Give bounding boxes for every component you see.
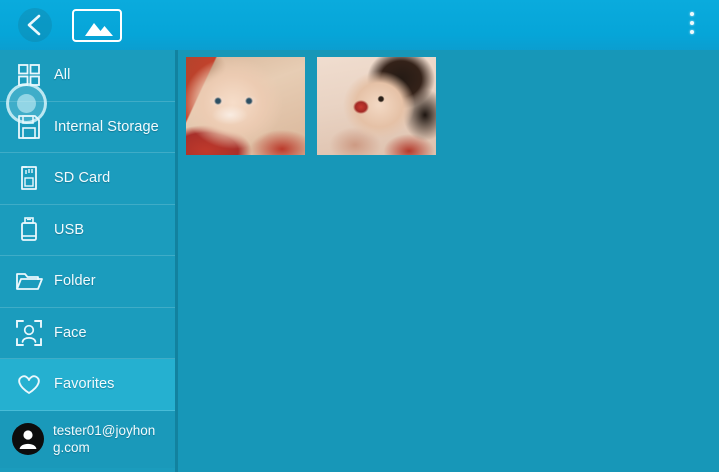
sidebar-account-item[interactable]: tester01@joyhong.com — [0, 411, 175, 468]
floppy-disk-icon — [14, 112, 44, 142]
sidebar-item-label: Favorites — [54, 376, 115, 392]
sidebar-item-all[interactable]: All — [0, 50, 175, 102]
photo-grid — [181, 50, 719, 472]
sidebar-nav: All Internal Storage — [0, 50, 178, 472]
sidebar-item-folder[interactable]: Folder — [0, 256, 175, 308]
photo-image — [317, 57, 436, 155]
sidebar-item-label: Internal Storage — [54, 119, 159, 135]
folder-icon — [14, 266, 44, 296]
account-avatar-icon — [12, 423, 44, 455]
sidebar-item-usb[interactable]: USB — [0, 205, 175, 257]
sidebar-item-label: Folder — [54, 273, 96, 289]
account-email-label: tester01@joyhong.com — [53, 422, 163, 456]
back-button[interactable] — [18, 8, 52, 42]
sidebar-item-internal-storage[interactable]: Internal Storage — [0, 102, 175, 154]
sidebar-item-label: SD Card — [54, 170, 110, 186]
gallery-app: All Internal Storage — [0, 0, 719, 472]
sidebar-item-favorites[interactable]: Favorites — [0, 359, 175, 411]
more-options-button[interactable] — [683, 12, 701, 38]
photo-image — [186, 57, 305, 155]
face-detect-icon — [14, 318, 44, 348]
sidebar-item-label: USB — [54, 222, 84, 238]
more-vertical-icon-dot-1 — [690, 12, 694, 16]
app-header — [0, 0, 719, 50]
more-vertical-icon-dot-3 — [690, 30, 694, 34]
more-vertical-icon-dot-2 — [690, 21, 694, 25]
photo-thumbnail[interactable] — [317, 57, 436, 155]
sidebar-item-label: All — [54, 67, 70, 83]
gallery-tab-button[interactable] — [72, 9, 122, 42]
photo-thumbnail[interactable] — [186, 57, 305, 155]
grid-icon — [14, 60, 44, 90]
usb-drive-icon — [14, 215, 44, 245]
sidebar-item-sd-card[interactable]: SD Card — [0, 153, 175, 205]
sd-card-icon — [14, 163, 44, 193]
heart-icon — [14, 369, 44, 399]
sidebar-item-face[interactable]: Face — [0, 308, 175, 360]
sidebar-item-label: Face — [54, 325, 87, 341]
